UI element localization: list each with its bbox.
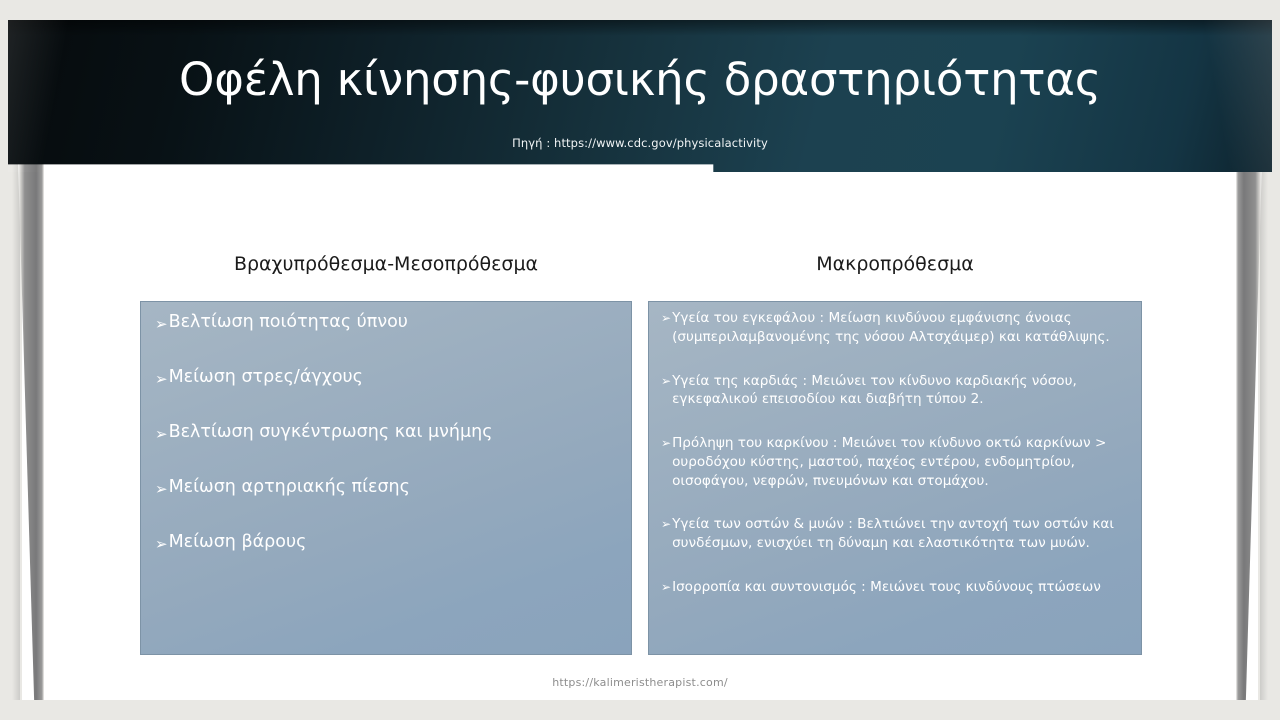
left-rail-shadow xyxy=(12,160,20,700)
bullet-arrow-icon: ➢ xyxy=(155,477,168,497)
short-mid-term-list: ➢ Βελτίωση ποιότητας ύπνου ➢ Μείωση στρε… xyxy=(155,312,619,553)
list-item: ➢ Μείωση στρες/άγχους xyxy=(155,367,619,389)
list-item-text: Πρόληψη του καρκίνου : Μειώνει τον κίνδυ… xyxy=(672,434,1127,490)
slide-title: Οφέλη κίνησης-φυσικής δραστηριότητας xyxy=(0,56,1280,103)
list-item: ➢ Υγεία της καρδιάς : Μειώνει τον κίνδυν… xyxy=(661,372,1127,410)
slide-source-note: Πηγή : https://www.cdc.gov/physicalactiv… xyxy=(0,136,1280,150)
list-item: ➢ Ισορροπία και συντονισμός : Μειώνει το… xyxy=(661,578,1127,597)
long-term-list: ➢ Υγεία του εγκεφάλου : Μείωση κινδύνου … xyxy=(661,309,1127,597)
bullet-arrow-icon: ➢ xyxy=(661,515,671,530)
list-item-text: Υγεία της καρδιάς : Μειώνει τον κίνδυνο … xyxy=(672,372,1127,410)
right-rail-shadow xyxy=(1260,160,1268,700)
list-item-text: Μείωση αρτηριακής πίεσης xyxy=(169,477,619,499)
column-heading-short-mid-term: Βραχυπρόθεσμα-Μεσοπρόθεσμα xyxy=(140,253,632,275)
list-item-text: Μείωση βάρους xyxy=(169,532,619,554)
bullet-arrow-icon: ➢ xyxy=(155,367,168,387)
list-item: ➢ Πρόληψη του καρκίνου : Μειώνει τον κίν… xyxy=(661,434,1127,490)
list-item: ➢ Υγεία των οστών & μυών : Βελτιώνει την… xyxy=(661,515,1127,553)
list-item: ➢ Υγεία του εγκεφάλου : Μείωση κινδύνου … xyxy=(661,309,1127,347)
bullet-arrow-icon: ➢ xyxy=(661,578,671,593)
bullet-arrow-icon: ➢ xyxy=(661,434,671,449)
list-item: ➢ Βελτίωση ποιότητας ύπνου xyxy=(155,312,619,334)
column-heading-long-term: Μακροπρόθεσμα xyxy=(648,253,1142,275)
list-item-text: Υγεία των οστών & μυών : Βελτιώνει την α… xyxy=(672,515,1127,553)
list-item: ➢ Μείωση αρτηριακής πίεσης xyxy=(155,477,619,499)
list-item-text: Βελτίωση ποιότητας ύπνου xyxy=(169,312,619,334)
bullet-arrow-icon: ➢ xyxy=(155,422,168,442)
slide: Οφέλη κίνησης-φυσικής δραστηριότητας Πηγ… xyxy=(0,0,1280,720)
list-item-text: Βελτίωση συγκέντρωσης και μνήμης xyxy=(169,422,619,444)
list-item-text: Ισορροπία και συντονισμός : Μειώνει τους… xyxy=(672,578,1127,597)
bullet-arrow-icon: ➢ xyxy=(155,532,168,552)
list-item: ➢ Μείωση βάρους xyxy=(155,532,619,554)
list-item-text: Μείωση στρες/άγχους xyxy=(169,367,619,389)
bullet-arrow-icon: ➢ xyxy=(661,372,671,387)
bullet-arrow-icon: ➢ xyxy=(155,312,168,332)
short-mid-term-box: ➢ Βελτίωση ποιότητας ύπνου ➢ Μείωση στρε… xyxy=(140,301,632,655)
footer-website-link[interactable]: https://kalimeristherapist.com/ xyxy=(0,676,1280,689)
list-item: ➢ Βελτίωση συγκέντρωσης και μνήμης xyxy=(155,422,619,444)
list-item-text: Υγεία του εγκεφάλου : Μείωση κινδύνου εμ… xyxy=(672,309,1127,347)
bullet-arrow-icon: ➢ xyxy=(661,309,671,324)
long-term-box: ➢ Υγεία του εγκεφάλου : Μείωση κινδύνου … xyxy=(648,301,1142,655)
